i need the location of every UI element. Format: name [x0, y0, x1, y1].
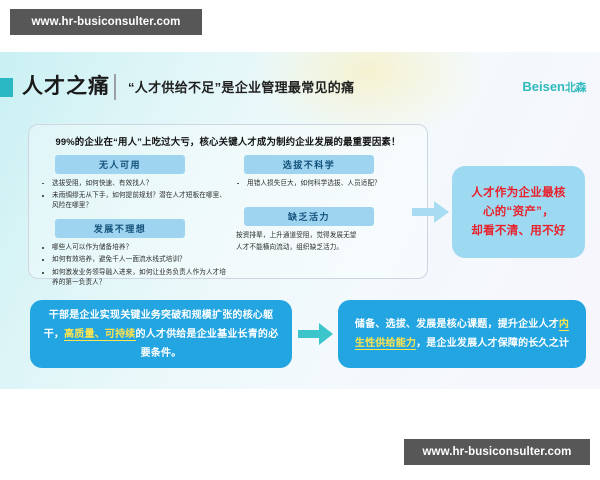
pain-bullet: 选拔受阻，如何快速、有效找人？	[37, 179, 227, 189]
title-divider	[114, 74, 116, 100]
brand-logo-latin: Beisen	[522, 79, 565, 94]
conclusion-right-part1: 储备、选拔、发展是核心课题，提升企业人才	[355, 319, 559, 330]
right-arrow-icon-teal	[298, 321, 334, 347]
conclusion-left-highlight: 高质量、可持续	[64, 329, 135, 341]
pain-bullet: 如何有效培养，避免千人一面流水线式培训？	[37, 255, 227, 265]
core-asset-callout-text: 人才作为企业最核 心的“资产”， 却看不清、用不好	[471, 184, 565, 241]
watermark-top-url: www.hr-busiconsulter.com	[10, 9, 202, 35]
pain-group-title: 无人可用	[55, 155, 185, 174]
conclusion-right-text: 储备、选拔、发展是核心课题，提升企业人才内生性供给能力，是企业发展人才保障的长久…	[350, 315, 574, 353]
pain-bullet: 人才不能横向流动，组织缺乏活力。	[232, 243, 422, 253]
pain-group: 选拔不科学 用错人损失巨大，如何科学选拔、人员适配？	[232, 155, 422, 188]
callout-line-3: 却看不清、用不好	[471, 225, 565, 237]
pain-bullet-list: 选拔受阻，如何快速、有效找人？ 未雨绸缪无从下手，如何提前规划？潜在人才短板在哪…	[37, 179, 227, 211]
pain-group: 缺乏活力 按资排辈，上升通道受阻，觉得发展无望 人才不能横向流动，组织缺乏活力。	[232, 207, 422, 253]
pain-group-title: 选拔不科学	[244, 155, 374, 174]
brand-logo-cn: 北森	[565, 82, 586, 94]
conclusion-right-part2: ，是企业发展人才保障的长久之计	[416, 338, 569, 349]
callout-line-1: 人才作为企业最核	[471, 187, 565, 199]
slide-header: 人才之痛 “人才供给不足”是企业管理最常见的痛 Beisen北森	[0, 68, 600, 110]
conclusion-box-left: 干部是企业实现关键业务突破和规模扩张的核心躯干，高质量、可持续的人才供给是企业基…	[30, 300, 292, 368]
core-asset-callout: 人才作为企业最核 心的“资产”， 却看不清、用不好	[452, 166, 585, 258]
panel-headline: 99%的企业在“用人”上吃过大亏，核心关键人才成为制约企业发展的最重要因素！	[29, 134, 427, 148]
pain-bullet-list: 用错人损失巨大，如何科学选拔、人员适配？	[232, 179, 422, 189]
pain-bullet-list: 哪些人可以作为储备培养？ 如何有效培养，避免千人一面流水线式培训？ 如何激发业务…	[37, 243, 227, 287]
pain-points-panel: 99%的企业在“用人”上吃过大亏，核心关键人才成为制约企业发展的最重要因素！ 无…	[28, 124, 428, 279]
pain-column-left: 无人可用 选拔受阻，如何快速、有效找人？ 未雨绸缪无从下手，如何提前规划？潜在人…	[37, 155, 227, 296]
pain-bullet: 按资排辈，上升通道受阻，觉得发展无望	[232, 231, 422, 241]
page-title: 人才之痛	[22, 72, 110, 102]
pain-group: 无人可用 选拔受阻，如何快速、有效找人？ 未雨绸缪无从下手，如何提前规划？潜在人…	[37, 155, 227, 210]
brand-logo: Beisen北森	[522, 79, 586, 95]
conclusion-left-text: 干部是企业实现关键业务突破和规模扩张的核心躯干，高质量、可持续的人才供给是企业基…	[42, 306, 280, 363]
pain-bullet: 未雨绸缪无从下手，如何提前规划？潜在人才短板在哪里、风险在哪里？	[37, 191, 227, 210]
watermark-bottom-url: www.hr-busiconsulter.com	[404, 439, 590, 465]
right-arrow-icon	[412, 199, 450, 225]
conclusion-left-part2: 的人才供给是企业基业长青的必要条件。	[136, 329, 279, 359]
slide-canvas: 人才之痛 “人才供给不足”是企业管理最常见的痛 Beisen北森 99%的企业在…	[0, 52, 600, 389]
pain-group-title: 缺乏活力	[244, 207, 374, 226]
pain-group-title: 发展不理想	[55, 219, 185, 238]
page-subtitle: “人才供给不足”是企业管理最常见的痛	[128, 77, 354, 98]
pain-bullet: 如何激发业务领导融入进来，如何让业务负责人作为人才培养的第一负责人？	[37, 268, 227, 287]
pain-bullet: 用错人损失巨大，如何科学选拔、人员适配？	[232, 179, 422, 189]
pain-bullet-list: 按资排辈，上升通道受阻，觉得发展无望 人才不能横向流动，组织缺乏活力。	[232, 231, 422, 253]
conclusion-box-right: 储备、选拔、发展是核心课题，提升企业人才内生性供给能力，是企业发展人才保障的长久…	[338, 300, 586, 368]
callout-line-2: 心的“资产”，	[483, 206, 554, 218]
pain-group: 发展不理想 哪些人可以作为储备培养？ 如何有效培养，避免千人一面流水线式培训？ …	[37, 219, 227, 287]
title-accent-bar	[0, 78, 13, 97]
pain-bullet: 哪些人可以作为储备培养？	[37, 243, 227, 253]
pain-column-right: 选拔不科学 用错人损失巨大，如何科学选拔、人员适配？ 缺乏活力 按资排辈，上升通…	[232, 155, 422, 262]
